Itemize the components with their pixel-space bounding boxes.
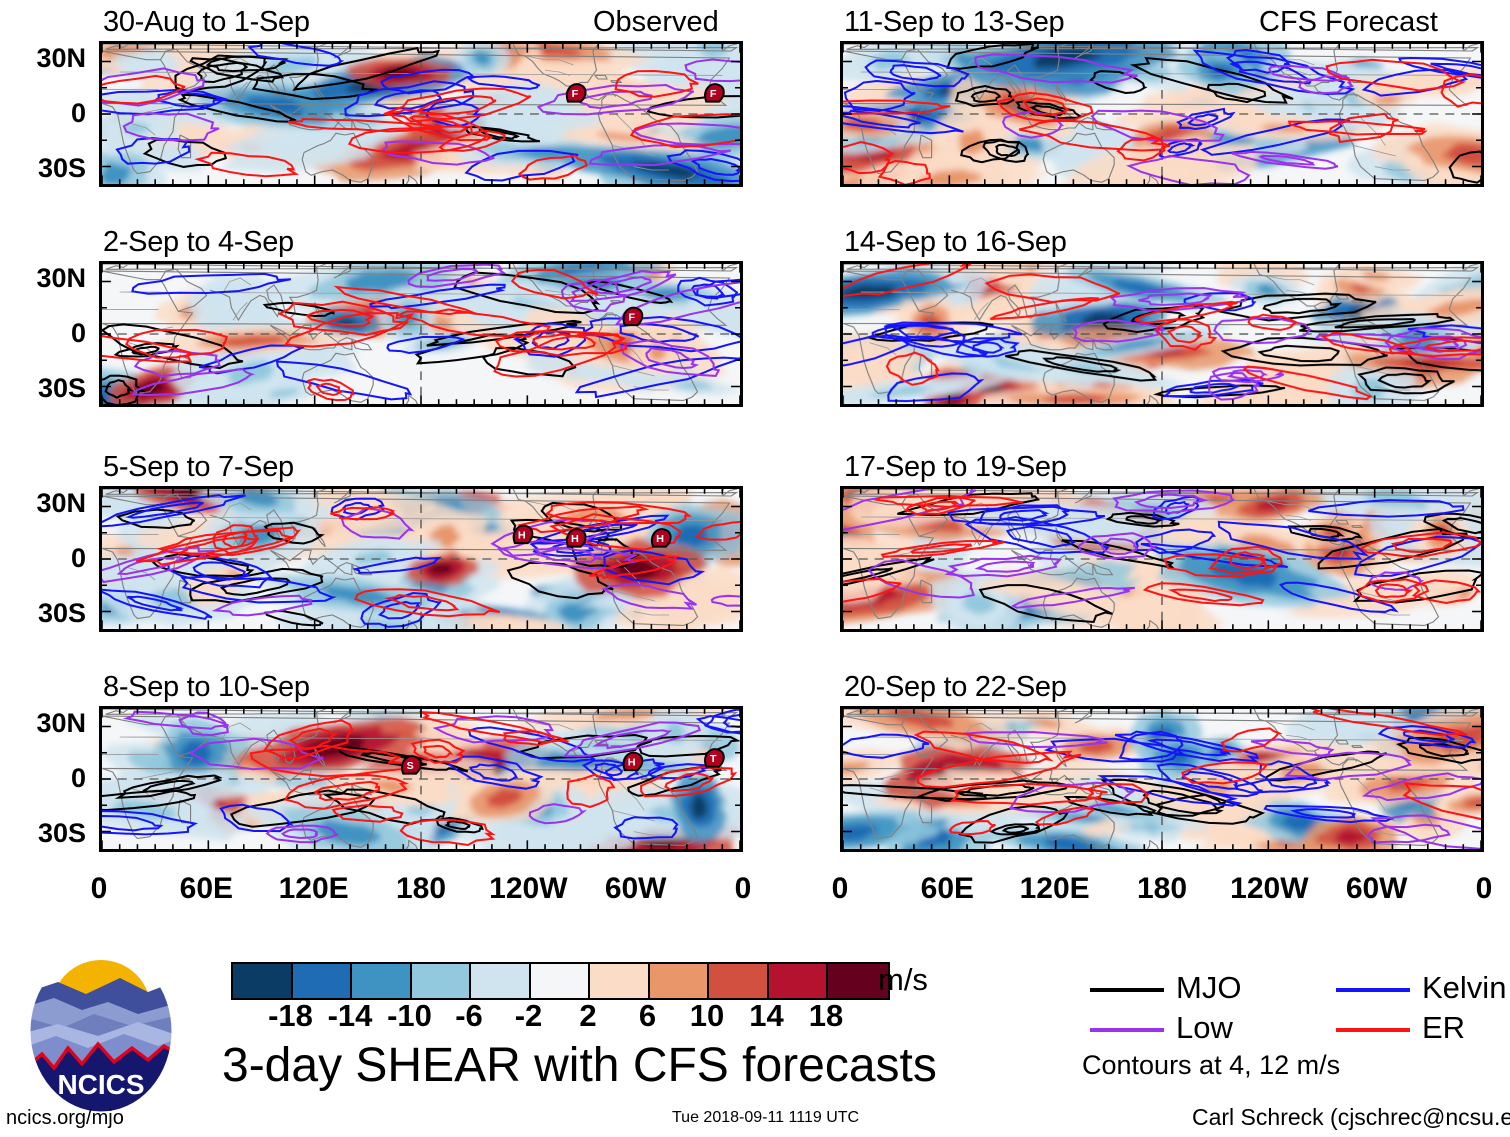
contour-note: Contours at 4, 12 m/s — [1082, 1052, 1340, 1079]
colorbar-cell-5 — [531, 964, 591, 998]
colorbar-tick-1: -14 — [328, 1000, 373, 1031]
xtick-right-4: 120W — [1230, 874, 1308, 904]
column-header-right: CFS Forecast — [1259, 8, 1438, 37]
colorbar-cell-7 — [650, 964, 710, 998]
map-panel-30-aug-to-1-sep[interactable]: FF — [99, 41, 743, 187]
colorbar-cell-9 — [769, 964, 829, 998]
colorbar-cell-2 — [352, 964, 412, 998]
author-credit: Carl Schreck (cjschrec@ncsu.edu) — [1192, 1106, 1510, 1129]
colorbar-tick-5: 2 — [579, 1000, 596, 1031]
xtick-right-3: 180 — [1137, 874, 1187, 904]
svg-text:F: F — [628, 311, 635, 323]
colorbar-tick-2: -10 — [387, 1000, 432, 1031]
svg-text:H: H — [518, 529, 526, 541]
xtick-left-3: 180 — [396, 874, 446, 904]
colorbar-cell-3 — [412, 964, 472, 998]
ytick-0-row3: 0 — [8, 765, 86, 792]
colorbar-tick-8: 14 — [749, 1000, 783, 1031]
colorbar-tick-9: 18 — [809, 1000, 843, 1031]
map-panel-17-sep-to-19-sep[interactable] — [840, 486, 1484, 632]
xtick-right-1: 60E — [921, 874, 974, 904]
xtick-right-0: 0 — [832, 874, 849, 904]
ncics-logo-icon: NCICS — [28, 948, 174, 1114]
ytick-30n-row0: 30N — [8, 45, 86, 72]
svg-text:H: H — [571, 533, 579, 545]
map-panel-8-sep-to-10-sep[interactable]: TSH — [99, 706, 743, 852]
storm-marker: F — [705, 84, 724, 102]
map-panel-20-sep-to-22-sep[interactable] — [840, 706, 1484, 852]
panel-title-2-sep-to-4-sep: 2-Sep to 4-Sep — [103, 228, 294, 257]
ytick-0-row1: 0 — [8, 320, 86, 347]
ytick-30s-row1: 30S — [8, 375, 86, 402]
svg-text:F: F — [710, 88, 717, 100]
storm-marker: H — [567, 529, 586, 547]
storm-marker: T — [705, 749, 724, 767]
xtick-left-4: 120W — [489, 874, 567, 904]
svg-text:H: H — [656, 533, 664, 545]
timestamp: Tue 2018-09-11 1119 UTC — [672, 1110, 859, 1126]
colorbar-tick-6: 6 — [639, 1000, 656, 1031]
ytick-0-row0: 0 — [8, 100, 86, 127]
ytick-30s-row3: 30S — [8, 820, 86, 847]
map-panel-5-sep-to-7-sep[interactable]: HHH — [99, 486, 743, 632]
xtick-right-5: 60W — [1346, 874, 1408, 904]
map-panel-11-sep-to-13-sep[interactable] — [840, 41, 1484, 187]
legend-label-low: Low — [1176, 1012, 1233, 1043]
svg-text:H: H — [628, 756, 636, 768]
panel-title-5-sep-to-7-sep: 5-Sep to 7-Sep — [103, 453, 294, 482]
svg-text:F: F — [572, 88, 579, 100]
legend-line-er — [1336, 1028, 1410, 1032]
ncics-logo-text: NCICS — [57, 1069, 144, 1100]
legend-line-kelvin-x2 — [1336, 988, 1410, 992]
xtick-left-6: 0 — [735, 874, 752, 904]
xtick-left-0: 0 — [91, 874, 108, 904]
map-panel-2-sep-to-4-sep[interactable]: F — [99, 261, 743, 407]
xtick-left-5: 60W — [605, 874, 667, 904]
storm-marker: S — [402, 756, 421, 774]
svg-text:T: T — [710, 753, 717, 765]
ytick-30s-row2: 30S — [8, 600, 86, 627]
colorbar-tick-7: 10 — [690, 1000, 724, 1031]
ytick-30n-row3: 30N — [8, 710, 86, 737]
colorbar-cell-0 — [233, 964, 293, 998]
colorbar-tick-0: -18 — [268, 1000, 313, 1031]
ytick-30n-row2: 30N — [8, 490, 86, 517]
figure-title: 3-day SHEAR with CFS forecasts — [222, 1042, 937, 1090]
colorbar-cell-4 — [471, 964, 531, 998]
column-header-left: Observed — [593, 8, 719, 37]
panel-title-14-sep-to-16-sep: 14-Sep to 16-Sep — [844, 228, 1067, 257]
panel-title-17-sep-to-19-sep: 17-Sep to 19-Sep — [844, 453, 1067, 482]
ytick-30s-row0: 30S — [8, 155, 86, 182]
legend-label-er: ER — [1422, 1012, 1465, 1043]
colorbar — [231, 962, 890, 1000]
colorbar-tick-3: -6 — [455, 1000, 483, 1031]
panel-title-30-aug-to-1-sep: 30-Aug to 1-Sep — [103, 8, 310, 37]
legend-label-kelvin-x2: Kelvin x2 — [1422, 972, 1510, 1003]
panel-title-20-sep-to-22-sep: 20-Sep to 22-Sep — [844, 673, 1067, 702]
panel-title-8-sep-to-10-sep: 8-Sep to 10-Sep — [103, 673, 310, 702]
colorbar-unit-label: m/s — [878, 964, 928, 995]
storm-marker: H — [624, 753, 643, 771]
xtick-left-2: 120E — [279, 874, 349, 904]
legend-line-low — [1090, 1028, 1164, 1032]
legend-label-mjo: MJO — [1176, 972, 1241, 1003]
map-panel-14-sep-to-16-sep[interactable] — [840, 261, 1484, 407]
storm-marker: F — [567, 84, 586, 102]
storm-marker: H — [514, 526, 533, 544]
site-url[interactable]: ncics.org/mjo — [6, 1108, 124, 1128]
storm-marker: F — [624, 308, 643, 326]
colorbar-cell-8 — [709, 964, 769, 998]
xtick-right-2: 120E — [1020, 874, 1090, 904]
storm-marker: H — [652, 529, 671, 547]
xtick-left-1: 60E — [180, 874, 233, 904]
svg-text:S: S — [407, 760, 414, 772]
ncics-logo: NCICS — [28, 948, 174, 1114]
colorbar-tick-4: -2 — [515, 1000, 543, 1031]
panel-title-11-sep-to-13-sep: 11-Sep to 13-Sep — [844, 8, 1064, 37]
legend-line-mjo — [1090, 988, 1164, 992]
colorbar-cell-1 — [293, 964, 353, 998]
ytick-0-row2: 0 — [8, 545, 86, 572]
xtick-right-6: 0 — [1476, 874, 1493, 904]
colorbar-cell-6 — [590, 964, 650, 998]
ytick-30n-row1: 30N — [8, 265, 86, 292]
